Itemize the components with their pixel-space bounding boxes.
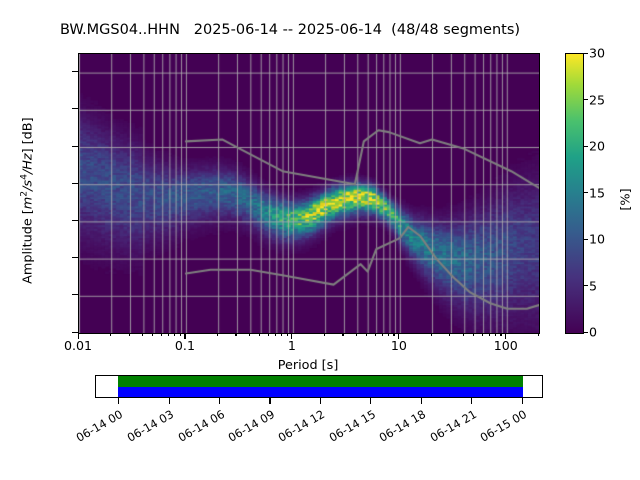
x-axis-tick-mark (505, 333, 506, 339)
timeline-tick-label: 06-14 00 (68, 407, 125, 448)
x-axis-minor-tick-mark (268, 333, 269, 336)
y-axis-tick-mark (72, 257, 78, 258)
x-axis-tick-mark (398, 333, 399, 339)
x-axis-minor-tick-mark (129, 333, 130, 336)
timeline-tick-mark (269, 398, 270, 404)
x-axis-minor-tick-mark (482, 333, 483, 336)
x-axis-minor-tick-mark (142, 333, 143, 336)
y-axis-tick-mark (72, 220, 78, 221)
x-axis-minor-tick-mark (161, 333, 162, 336)
timeline-tick-label: 06-14 06 (169, 407, 226, 448)
y-axis-label: Amplitude [m2/s4/Hz] [dB] (18, 61, 35, 341)
timeline-tick-mark (522, 398, 523, 404)
x-axis-minor-tick-mark (342, 333, 343, 336)
x-axis-minor-tick-mark (275, 333, 276, 336)
x-axis-tick-label: 0.01 (33, 338, 123, 353)
colorbar-tick-label: 25 (589, 92, 605, 107)
ppsd-histogram-canvas (79, 54, 539, 333)
colorbar-tick-mark (583, 285, 588, 286)
x-axis-minor-tick-mark (538, 333, 539, 336)
x-axis-minor-tick-mark (235, 333, 236, 336)
colorbar (565, 53, 584, 334)
y-axis-tick-mark (72, 108, 78, 109)
colorbar-tick-mark (583, 99, 588, 100)
colorbar-tick-label: 5 (589, 278, 597, 293)
x-axis-tick-label: 100 (461, 338, 551, 353)
x-axis-tick-mark (78, 333, 79, 339)
timeline-tick-label: 06-15 00 (472, 407, 529, 448)
x-axis-minor-tick-mark (449, 333, 450, 336)
timeline-tick-mark (471, 398, 472, 404)
x-axis-minor-tick-mark (366, 333, 367, 336)
x-axis-minor-tick-mark (463, 333, 464, 336)
x-axis-minor-tick-mark (259, 333, 260, 336)
timeline-tick-label: 06-14 21 (422, 407, 479, 448)
timeline-tick-mark (421, 398, 422, 404)
colorbar-tick-mark (583, 53, 588, 54)
x-axis-minor-tick-mark (110, 333, 111, 336)
x-axis-minor-tick-mark (375, 333, 376, 336)
colorbar-tick-mark (583, 332, 588, 333)
colorbar-label: [%] (619, 140, 634, 260)
colorbar-tick-label: 0 (589, 325, 597, 340)
x-axis-minor-tick-mark (356, 333, 357, 336)
x-axis-minor-tick-mark (388, 333, 389, 336)
timeline-tick-label: 06-14 09 (220, 407, 277, 448)
x-axis-minor-tick-mark (287, 333, 288, 336)
ppsd-figure: BW.MGS04..HHN 2025-06-14 -- 2025-06-14 (… (0, 0, 640, 480)
colorbar-tick-label: 30 (589, 46, 605, 61)
x-axis-minor-tick-mark (152, 333, 153, 336)
x-axis-minor-tick-mark (500, 333, 501, 336)
page-title: BW.MGS04..HHN 2025-06-14 -- 2025-06-14 (… (0, 22, 580, 38)
x-axis-tick-label: 0.1 (140, 338, 230, 353)
timeline-tick-label: 06-14 12 (270, 407, 327, 448)
x-axis-minor-tick-mark (324, 333, 325, 336)
timeline-coverage-bar[interactable] (95, 375, 543, 398)
colorbar-tick-label: 15 (589, 185, 605, 200)
timeline-tick-mark (320, 398, 321, 404)
x-axis-minor-tick-mark (473, 333, 474, 336)
ppsd-plot-area[interactable] (78, 53, 540, 334)
x-axis-minor-tick-mark (382, 333, 383, 336)
x-axis-label: Period [s] (78, 358, 538, 373)
timeline-band-psd-coverage (118, 387, 523, 398)
timeline-tick-mark (169, 398, 170, 404)
y-axis-tick-mark (72, 146, 78, 147)
x-axis-minor-tick-mark (217, 333, 218, 336)
x-axis-minor-tick-mark (393, 333, 394, 336)
timeline-tick-label: 06-14 03 (119, 407, 176, 448)
timeline-tick-mark (118, 398, 119, 404)
y-axis-tick-mark (72, 183, 78, 184)
timeline-band-data-coverage (118, 376, 523, 387)
y-axis-tick-mark (72, 71, 78, 72)
y-axis-tick-mark (72, 294, 78, 295)
colorbar-tick-mark (583, 239, 588, 240)
x-axis-tick-label: 1 (247, 338, 337, 353)
x-axis-minor-tick-mark (168, 333, 169, 336)
timeline-tick-label: 06-14 15 (320, 407, 377, 448)
timeline-tick-mark (370, 398, 371, 404)
x-axis-tick-mark (184, 333, 185, 339)
colorbar-tick-mark (583, 146, 588, 147)
x-axis-tick-label: 10 (354, 338, 444, 353)
x-axis-minor-tick-mark (495, 333, 496, 336)
x-axis-minor-tick-mark (249, 333, 250, 336)
x-axis-tick-mark (291, 333, 292, 339)
timeline-tick-label: 06-14 18 (371, 407, 428, 448)
x-axis-minor-tick-mark (281, 333, 282, 336)
colorbar-tick-label: 20 (589, 139, 605, 154)
colorbar-tick-mark (583, 192, 588, 193)
x-axis-minor-tick-mark (180, 333, 181, 336)
x-axis-minor-tick-mark (174, 333, 175, 336)
x-axis-minor-tick-mark (489, 333, 490, 336)
colorbar-tick-label: 10 (589, 232, 605, 247)
timeline-tick-mark (219, 398, 220, 404)
x-axis-minor-tick-mark (431, 333, 432, 336)
